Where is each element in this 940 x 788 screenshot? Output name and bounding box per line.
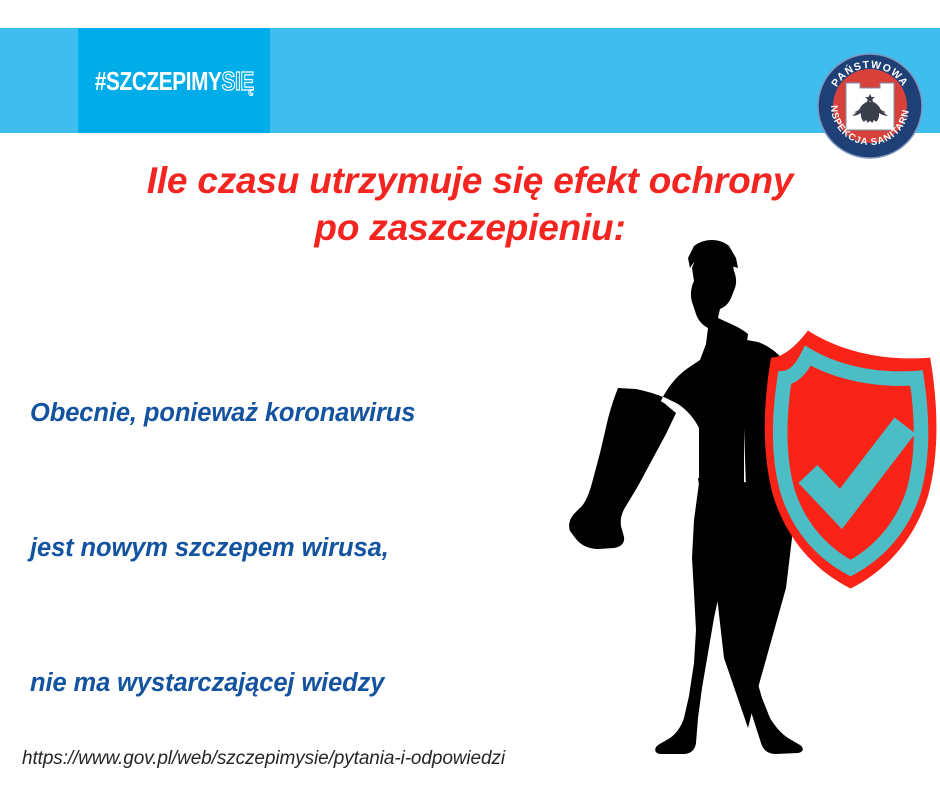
man-arm-and-fist-shape [569,388,676,549]
panstwowa-inspekcja-sanitarna-emblem-icon: PAŃSTWOWA INSPEKCJA SANITARNA [816,52,924,160]
title-line-1: Ile czasu utrzymuje się efekt ochrony [60,158,880,205]
source-url: https://www.gov.pl/web/szczepimysie/pyta… [22,748,505,770]
man-with-protective-shield-illustration [548,238,940,783]
body-copy: Obecnie, ponieważ koronawirus jest nowym… [30,301,540,788]
campaign-logo-block: #SZCZEPIMYSIĘ [78,28,270,133]
campaign-hashtag-outline-part: SIĘ [221,66,253,96]
body-line-3: nie ma wystarczającej wiedzy [30,661,540,706]
header-banner: #SZCZEPIMYSIĘ [0,28,940,133]
campaign-hashtag-solid-part: #SZCZEPIMY [95,66,222,96]
body-line-1: Obecnie, ponieważ koronawirus [30,391,540,436]
body-line-2: jest nowym szczepem wirusa, [30,526,540,571]
poster-canvas: #SZCZEPIMYSIĘ [0,0,940,788]
campaign-hashtag-logo: #SZCZEPIMYSIĘ [95,68,254,94]
